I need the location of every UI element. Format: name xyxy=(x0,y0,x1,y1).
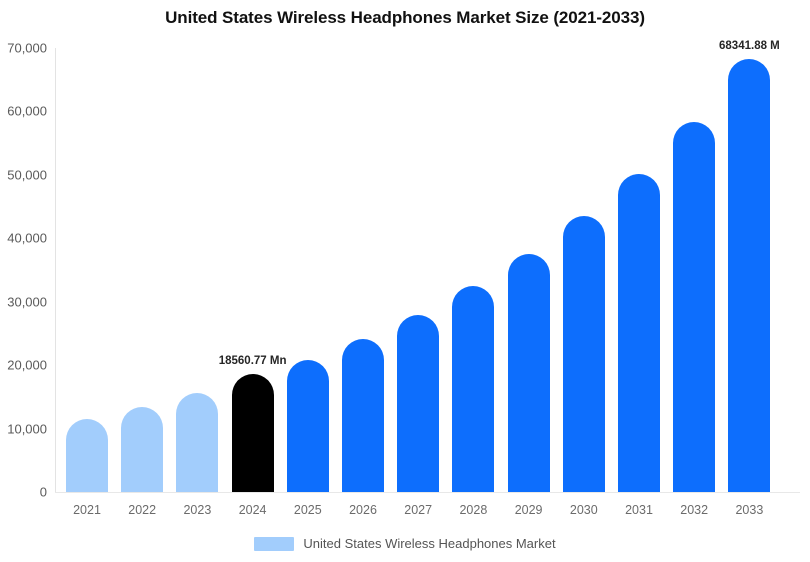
bar-2033[interactable] xyxy=(728,59,770,492)
y-axis-tick-label: 10,000 xyxy=(0,421,47,436)
chart-title: United States Wireless Headphones Market… xyxy=(0,8,810,28)
bar-column[interactable] xyxy=(563,48,605,492)
bar-2026[interactable] xyxy=(342,339,384,492)
bar-column[interactable] xyxy=(452,48,494,492)
bar-column[interactable] xyxy=(342,48,384,492)
x-axis-tick-label-2031: 2031 xyxy=(608,503,670,517)
bar-column[interactable] xyxy=(121,48,163,492)
y-axis-tick-label: 30,000 xyxy=(0,294,47,309)
x-axis-tick-label-2033: 2033 xyxy=(718,503,780,517)
bar-2028[interactable] xyxy=(452,286,494,492)
x-axis-tick-label-2025: 2025 xyxy=(277,503,339,517)
bar-column[interactable] xyxy=(287,48,329,492)
x-axis-tick-label-2028: 2028 xyxy=(442,503,504,517)
x-axis-tick-label-2021: 2021 xyxy=(56,503,118,517)
chart-legend: United States Wireless Headphones Market xyxy=(0,536,810,551)
bar-column[interactable]: 68341.88 M xyxy=(728,48,770,492)
legend-label: United States Wireless Headphones Market xyxy=(303,536,555,551)
x-axis-line xyxy=(55,492,800,493)
plot-area: 18560.77 Mn68341.88 M xyxy=(55,48,800,492)
bar-column[interactable] xyxy=(508,48,550,492)
bar-column[interactable] xyxy=(673,48,715,492)
legend-swatch-icon xyxy=(254,537,294,551)
bar-2027[interactable] xyxy=(397,315,439,492)
bar-column[interactable] xyxy=(66,48,108,492)
bar-2024[interactable] xyxy=(232,374,274,492)
x-axis-tick-label-2026: 2026 xyxy=(332,503,394,517)
bar-2025[interactable] xyxy=(287,360,329,492)
y-axis-tick-label: 0 xyxy=(0,485,47,500)
y-axis-tick-label: 60,000 xyxy=(0,104,47,119)
x-axis-tick-label-2030: 2030 xyxy=(553,503,615,517)
bar-column[interactable] xyxy=(176,48,218,492)
x-axis-tick-label-2022: 2022 xyxy=(111,503,173,517)
bar-2022[interactable] xyxy=(121,407,163,492)
bar-2031[interactable] xyxy=(618,174,660,492)
bar-2021[interactable] xyxy=(66,419,108,492)
bar-2030[interactable] xyxy=(563,216,605,492)
y-axis-tick-label: 70,000 xyxy=(0,41,47,56)
bar-chart: United States Wireless Headphones Market… xyxy=(0,0,810,562)
x-axis-tick-label-2023: 2023 xyxy=(166,503,228,517)
bar-2023[interactable] xyxy=(176,393,218,492)
bar-column[interactable]: 18560.77 Mn xyxy=(232,48,274,492)
bar-value-label-2024: 18560.77 Mn xyxy=(219,355,287,367)
y-axis-line xyxy=(55,48,56,492)
x-axis-tick-label-2024: 2024 xyxy=(222,503,284,517)
x-axis-tick-label-2029: 2029 xyxy=(498,503,560,517)
bar-column[interactable] xyxy=(397,48,439,492)
bar-column[interactable] xyxy=(618,48,660,492)
y-axis-tick-label: 50,000 xyxy=(0,167,47,182)
x-axis-tick-label-2027: 2027 xyxy=(387,503,449,517)
bar-2029[interactable] xyxy=(508,254,550,492)
y-axis-tick-label: 40,000 xyxy=(0,231,47,246)
y-axis-tick-label: 20,000 xyxy=(0,358,47,373)
x-axis-tick-label-2032: 2032 xyxy=(663,503,725,517)
bar-2032[interactable] xyxy=(673,122,715,492)
bar-value-label-2033: 68341.88 M xyxy=(719,40,780,52)
